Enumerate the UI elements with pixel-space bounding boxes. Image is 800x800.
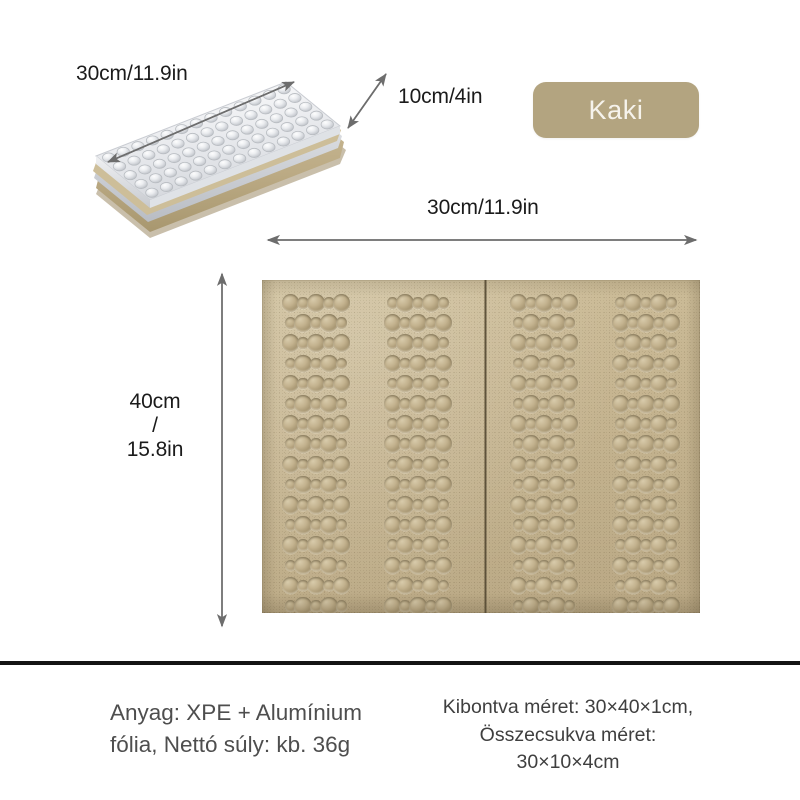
mat-dimple <box>548 314 566 332</box>
mat-dimple <box>666 337 678 349</box>
mat-dimple <box>422 496 440 514</box>
mat-dimple <box>438 539 450 551</box>
mat-dimple <box>564 317 576 329</box>
mat-dimple <box>561 456 579 474</box>
mat-dimple <box>561 536 579 554</box>
mat-dimple <box>320 355 338 373</box>
mat-dimple <box>650 496 668 514</box>
mat-dimple <box>564 479 576 491</box>
mat-dimple <box>435 476 453 494</box>
material-spec-line-1: Anyag: XPE + Alumínium <box>110 697 420 729</box>
mat-dimple <box>548 435 566 453</box>
mat-dimple <box>438 378 450 390</box>
mat-dimple <box>336 479 348 491</box>
mat-dimple <box>422 334 440 352</box>
mat-dimple <box>435 314 453 332</box>
mat-dimple <box>336 438 348 450</box>
mat-dimple <box>663 314 681 332</box>
mat-dimple <box>564 398 576 410</box>
mat-dimple <box>663 557 681 575</box>
mat-dimple <box>548 557 566 575</box>
mat-dimple <box>320 597 338 613</box>
mat-dimple <box>435 395 453 413</box>
mat-dimple <box>333 375 351 393</box>
mat-dimple <box>663 476 681 494</box>
mat-height-line-3: 15.8in <box>112 438 198 462</box>
mat-dimple <box>333 294 351 312</box>
mat-dimple <box>320 314 338 332</box>
mat-dimple <box>422 577 440 595</box>
mat-dimple <box>564 519 576 531</box>
mat-dimple <box>561 577 579 595</box>
mat-dimple <box>564 438 576 450</box>
mat-dimple <box>435 435 453 453</box>
mat-dimple <box>650 536 668 554</box>
mat-dimple <box>650 415 668 433</box>
mat-dimple <box>548 476 566 494</box>
mat-dimple <box>333 536 351 554</box>
mat-width-label: 30cm/11.9in <box>427 196 539 220</box>
mat-height-arrow <box>210 268 234 636</box>
mat-dimple <box>561 496 579 514</box>
mat-dimple <box>422 415 440 433</box>
mat-height-line-2: / <box>112 414 198 438</box>
mat-dimple <box>548 395 566 413</box>
mat-dimple <box>438 418 450 430</box>
mat-dimple <box>561 334 579 352</box>
mat-dimple <box>666 580 678 592</box>
mat-dimple <box>333 496 351 514</box>
mat-dimple <box>333 456 351 474</box>
mat-dimple <box>650 294 668 312</box>
folded-length-arrow <box>96 76 316 186</box>
mat-dimple <box>561 415 579 433</box>
mat-dimple <box>333 577 351 595</box>
mat-dimple <box>422 456 440 474</box>
mat-dimple <box>320 476 338 494</box>
mat-fold-line <box>484 280 487 613</box>
mat-dimple <box>548 516 566 534</box>
size-spec-text: Kibontva méret: 30×40×1cm, Összecsukva m… <box>424 694 712 777</box>
mat-dimple-column <box>512 280 576 613</box>
mat-dimple <box>422 536 440 554</box>
folded-width-label: 10cm/4in <box>398 85 482 109</box>
color-variant-badge[interactable]: Kaki <box>533 82 699 138</box>
mat-dimple <box>666 418 678 430</box>
mat-height-label: 40cm / 15.8in <box>112 390 198 462</box>
folded-width-arrow <box>338 68 402 138</box>
mat-dimple <box>422 294 440 312</box>
folded-dimple <box>321 120 333 129</box>
mat-dimple <box>663 395 681 413</box>
mat-dimple <box>650 456 668 474</box>
mat-dimple <box>333 415 351 433</box>
mat-dimple <box>320 435 338 453</box>
mat-height-line-1: 40cm <box>112 390 198 414</box>
mat-dimple <box>336 398 348 410</box>
mat-dimple <box>336 600 348 612</box>
mat-dimple <box>663 516 681 534</box>
mat-dimple <box>435 355 453 373</box>
mat-dimple <box>564 600 576 612</box>
mat-dimple <box>561 375 579 393</box>
mat-dimple <box>650 375 668 393</box>
mat-dimple <box>561 294 579 312</box>
mat-dimple <box>320 395 338 413</box>
mat-dimple <box>663 435 681 453</box>
unfolded-mat <box>262 280 700 613</box>
mat-dimple <box>435 597 453 613</box>
material-spec-line-2: fólia, Nettó súly: kb. 36g <box>110 729 420 761</box>
mat-dimple <box>333 334 351 352</box>
mat-dimple <box>650 334 668 352</box>
mat-dimple <box>666 378 678 390</box>
mat-dimple <box>438 499 450 511</box>
color-variant-label: Kaki <box>589 95 644 126</box>
folded-dimple <box>146 188 158 197</box>
mat-dimple <box>666 499 678 511</box>
mat-dimple-column <box>284 280 348 613</box>
mat-dimple <box>336 560 348 572</box>
mat-dimple <box>548 355 566 373</box>
mat-dimple <box>564 560 576 572</box>
mat-dimple <box>438 459 450 471</box>
mat-dimple <box>336 317 348 329</box>
mat-dimple-column <box>614 280 678 613</box>
mat-dimple <box>435 516 453 534</box>
section-divider <box>0 661 800 665</box>
mat-dimple <box>320 557 338 575</box>
mat-dimple <box>435 557 453 575</box>
size-spec-line-2: Összecsukva méret: <box>424 722 712 750</box>
mat-dimple <box>564 358 576 370</box>
mat-dimple <box>336 519 348 531</box>
mat-dimple <box>438 337 450 349</box>
mat-dimple-column <box>386 280 450 613</box>
mat-dimple <box>336 358 348 370</box>
mat-dimple <box>438 297 450 309</box>
mat-width-arrow <box>262 228 704 252</box>
mat-dimple <box>663 597 681 613</box>
material-spec-text: Anyag: XPE + Alumínium fólia, Nettó súly… <box>110 697 420 761</box>
mat-dimple <box>666 459 678 471</box>
mat-dimple <box>666 539 678 551</box>
size-spec-line-1: Kibontva méret: 30×40×1cm, <box>424 694 712 722</box>
mat-dimple <box>320 516 338 534</box>
mat-dimple <box>663 355 681 373</box>
mat-dimple <box>548 597 566 613</box>
mat-dimple <box>666 297 678 309</box>
mat-dimple <box>650 577 668 595</box>
infographic-canvas: 30cm/11.9in 10cm/4in Kaki <box>0 0 800 800</box>
mat-dimple <box>438 580 450 592</box>
size-spec-line-3: 30×10×4cm <box>424 749 712 777</box>
mat-dimple <box>422 375 440 393</box>
